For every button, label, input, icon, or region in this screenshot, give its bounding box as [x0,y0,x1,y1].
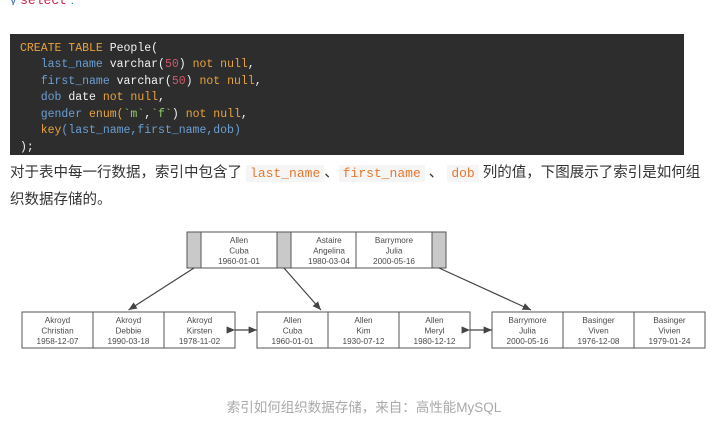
leaf-1-entry-1-dob: 1958-12-07 [37,337,79,346]
inline-code-last-name: last_name [246,165,324,182]
code-token: ) [186,75,200,88]
root-left-entry-3-last-name: Astaire [316,236,342,245]
code-token: first_name [20,75,117,88]
root-right-entry-0-last-name: Barrymore [375,236,414,245]
code-token: CREATE TABLE [20,42,110,55]
code-token: , [158,91,165,104]
pointer-arrows [129,268,532,310]
leaf-3-entry-1-first-name: Julia [519,327,536,336]
code-token: varchar( [117,75,172,88]
leaf-2-entry-3-dob: 1980-12-12 [414,337,456,346]
leaf-2-entry-2-first-name: Kim [356,327,370,336]
top-cutoff-text: y select : [10,0,310,5]
code-token: 50 [172,75,186,88]
leaf-2-entry-2-dob: 1930-07-12 [343,337,385,346]
leaf-1-entry-2-dob: 1990-03-18 [108,337,150,346]
code-token: dob [20,91,68,104]
code-token: 50 [165,58,179,71]
code-line: ); [20,141,34,154]
code-token: not null [103,91,158,104]
paragraph-segment-1: 对于表中每一行数据，索引中包含了 [10,165,246,181]
code-token: ) [179,58,193,71]
code-token: gender [20,108,89,121]
leaf-row: AkroydChristian1958-12-07AkroydDebbie199… [22,312,705,348]
top-cutoff-code: select [20,0,67,5]
code-token: last_name [20,58,110,71]
leaf-1-entry-2-first-name: Debbie [116,327,142,336]
leaf-3-entry-2-first-name: Viven [588,327,609,336]
paragraph-separator-2: 、 [425,165,448,181]
code-token: not null [193,58,248,71]
code-token: enum( [89,108,124,121]
explanation-paragraph: 对于表中每一行数据，索引中包含了 last_name、first_name 、 … [10,160,710,214]
root-left-entry-1-last-name: Allen [230,236,249,245]
code-token: People( [110,42,158,55]
btree-index-diagram: AllenCuba1960-01-01AstaireAngelina1980-0… [0,222,728,377]
leaf-2-entry-3-first-name: Meryl [424,327,444,336]
figure-caption: 索引如何组织数据存储，来自：高性能MySQL [0,396,728,416]
root-left-entry-3-first-name: Angelina [313,247,345,256]
code-line: key(last_name,first_name,dob) [20,124,241,137]
leaf-2-entry-1-first-name: Cuba [283,327,303,336]
code-token: `m` [124,108,145,121]
root-right-entry-0-dob: 2000-05-16 [373,257,415,266]
root-right-pointer-1 [432,232,446,268]
code-token: , [248,58,255,71]
code-token: key [20,124,61,137]
root-left-entry-1-first-name: Cuba [229,247,249,256]
root-right-entry-0-first-name: Julia [386,247,403,256]
leaf-3-entry-2-dob: 1976-12-08 [578,337,620,346]
inline-code-first-name: first_name [339,165,425,182]
code-token: ) [172,108,186,121]
root-left-entry-1-dob: 1960-01-01 [218,257,260,266]
code-token: ); [20,141,34,154]
leaf-1-entry-1-last-name: Akroyd [45,316,71,325]
leaf-1-entry-3-dob: 1978-11-02 [179,337,221,346]
leaf-1-entry-1-first-name: Christian [41,327,74,336]
code-token: date [68,91,103,104]
top-cutoff-suffix: : [67,0,74,5]
leaf-3-entry-3-dob: 1979-01-24 [649,337,691,346]
code-line: last_name varchar(50) not null, [20,58,255,71]
inline-code-dob: dob [447,165,478,182]
code-token: `f` [151,108,172,121]
code-line: dob date not null, [20,91,165,104]
root-left-entry-3-dob: 1980-03-04 [308,257,350,266]
leaf-3-entry-3-first-name: Vivien [658,327,681,336]
leaf-1-entry-3-last-name: Akroyd [187,316,213,325]
leaf-1-entry-3-first-name: Kirsten [187,327,213,336]
code-token: (last_name,first_name,dob) [61,124,240,137]
leaf-3-entry-3-last-name: Basinger [653,316,686,325]
code-token: not null [199,75,254,88]
leaf-3-entry-2-last-name: Basinger [582,316,615,325]
paragraph-separator-1: 、 [324,165,339,181]
root-left-pointer-2 [277,232,291,268]
leaf-2-entry-2-last-name: Allen [354,316,373,325]
sql-code-block: CREATE TABLE People( last_name varchar(5… [10,34,684,155]
code-token: , [255,75,262,88]
leaf-3-entry-1-dob: 2000-05-16 [507,337,549,346]
btree-diagram-svg: AllenCuba1960-01-01AstaireAngelina1980-0… [0,222,728,377]
leaf-2-entry-1-dob: 1960-01-01 [272,337,314,346]
leaf-2-entry-3-last-name: Allen [425,316,444,325]
leaf-3-entry-1-last-name: Barrymore [508,316,547,325]
code-line: gender enum(`m`,`f`) not null, [20,108,248,121]
code-token: varchar( [110,58,165,71]
pointer-arrow-2 [284,268,321,310]
code-token: not null [186,108,241,121]
root-left-pointer-0 [187,232,201,268]
top-cutoff-prefix: y [10,0,20,5]
code-line: CREATE TABLE People( [20,42,158,55]
pointer-arrow-3 [439,268,531,310]
root-row: AllenCuba1960-01-01AstaireAngelina1980-0… [187,232,446,268]
leaf-1-entry-2-last-name: Akroyd [116,316,142,325]
leaf-2-entry-1-last-name: Allen [283,316,302,325]
code-line: first_name varchar(50) not null, [20,75,262,88]
pointer-arrow-1 [129,268,195,310]
code-token: , [241,108,248,121]
